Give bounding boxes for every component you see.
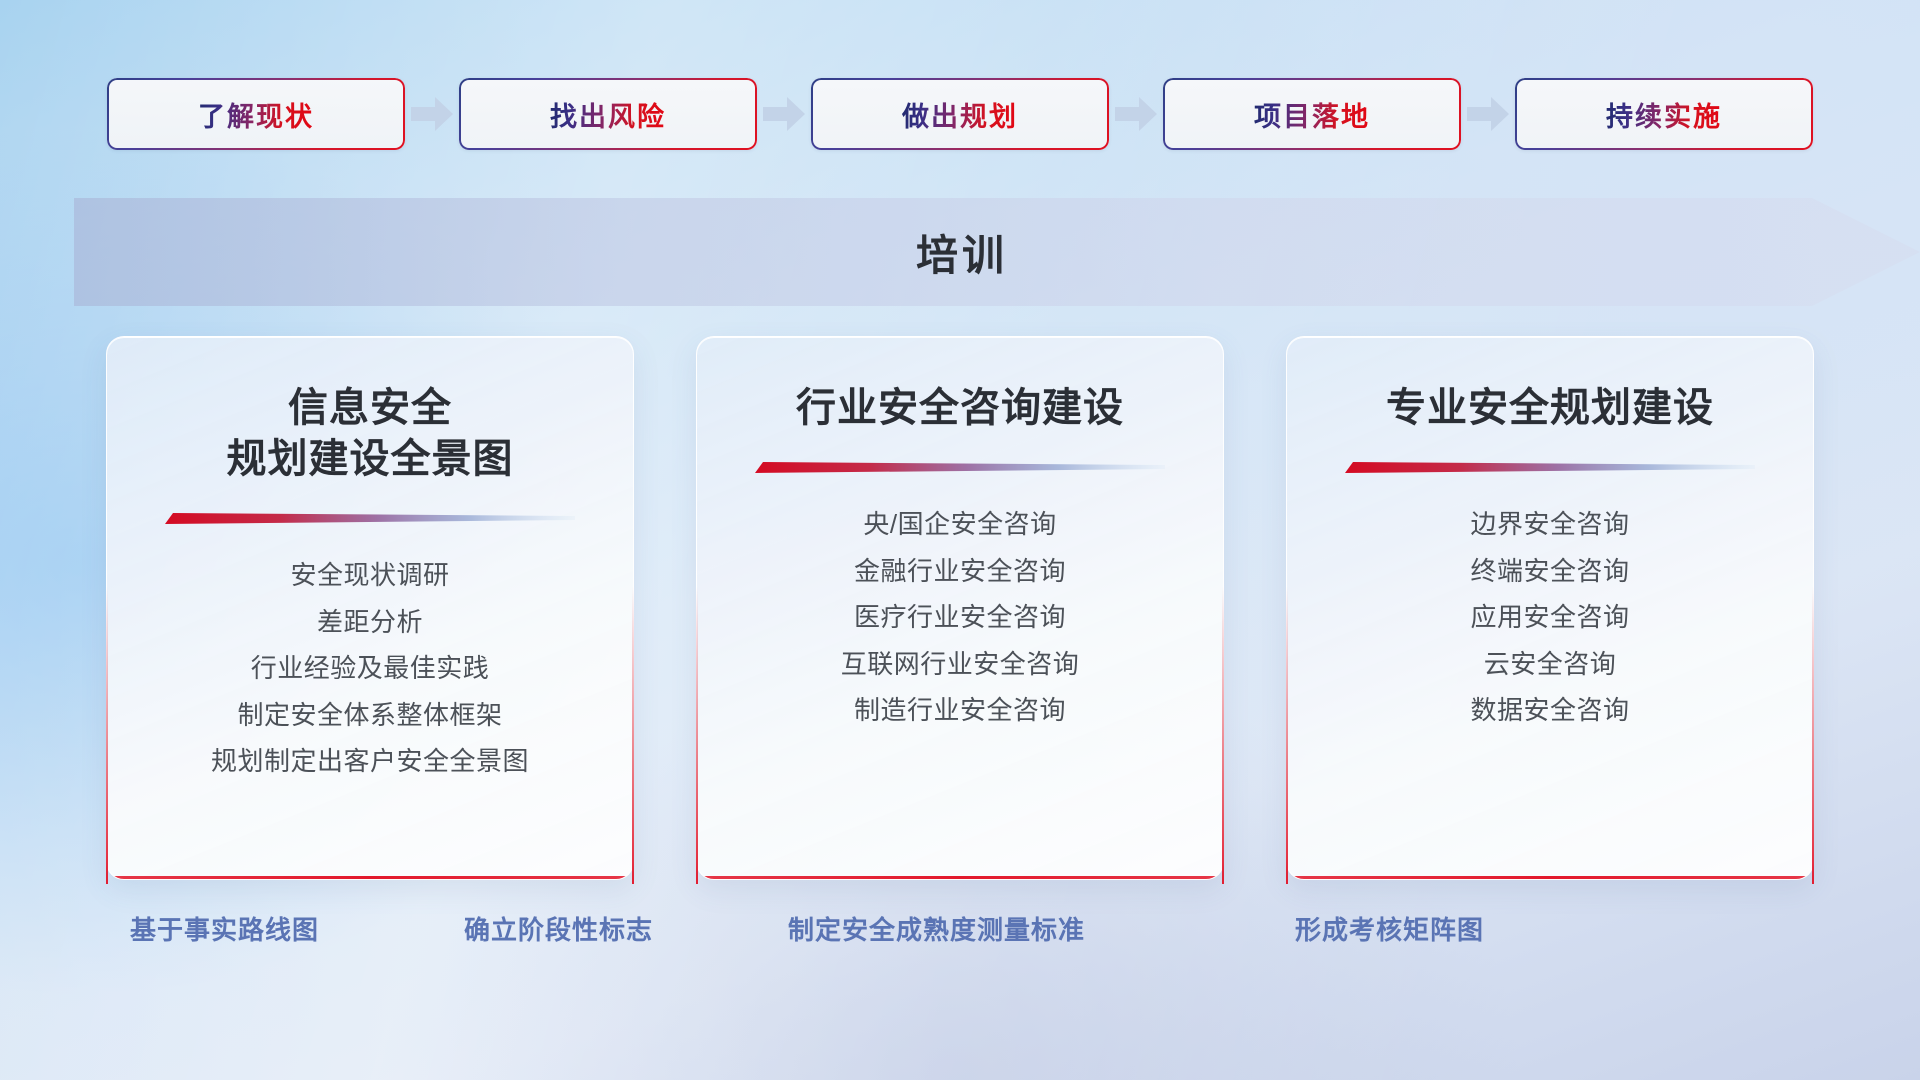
footer-label-1: 基于事实路线图 [130, 910, 319, 947]
card-2[interactable]: 行业安全咨询建设 央/国企安全咨询 [696, 336, 1224, 880]
step-box-1[interactable]: 了解现状 [107, 78, 405, 150]
card-title-2: 行业安全咨询建设 [796, 383, 1124, 434]
step-box-2[interactable]: 找出风险 [459, 78, 757, 150]
arrow-right-icon [405, 78, 459, 150]
list-item: 安全现状调研 [290, 559, 449, 592]
list-item: 数据安全咨询 [1470, 694, 1629, 727]
step-box-4[interactable]: 项目落地 [1163, 78, 1461, 150]
card-bottom-accent [703, 876, 1217, 879]
banner-label: 培训 [74, 198, 1920, 306]
list-item: 边界安全咨询 [1470, 508, 1629, 541]
step-box-3[interactable]: 做出规划 [811, 78, 1109, 150]
list-item: 终端安全咨询 [1470, 555, 1629, 588]
list-item: 制造行业安全咨询 [854, 694, 1066, 727]
list-item: 医疗行业安全咨询 [854, 601, 1066, 634]
card-list-2: 央/国企安全咨询 金融行业安全咨询 医疗行业安全咨询 互联网行业安全咨询 制造行… [723, 508, 1197, 727]
card-divider-2 [755, 460, 1165, 478]
list-item: 云安全咨询 [1484, 648, 1617, 681]
card-divider-3 [1345, 460, 1755, 478]
list-item: 央/国企安全咨询 [863, 508, 1056, 541]
card-title-1: 信息安全 规划建设全景图 [227, 383, 514, 485]
list-item: 行业经验及最佳实践 [251, 652, 490, 685]
arrow-right-icon [1461, 78, 1515, 150]
step-label-3: 做出规划 [902, 95, 1018, 134]
card-wrapper-3: 专业安全规划建设 边界安全咨询 [1286, 336, 1814, 880]
list-item: 金融行业安全咨询 [854, 555, 1066, 588]
step-label-4: 项目落地 [1254, 95, 1370, 134]
card-title-3: 专业安全规划建设 [1386, 383, 1714, 434]
list-item: 互联网行业安全咨询 [841, 648, 1080, 681]
card-wrapper-1: 信息安全 规划建设全景图 安全现状调研 [106, 336, 634, 880]
card-bottom-accent [1293, 876, 1807, 879]
training-banner: 培训 [74, 198, 1920, 306]
list-item: 规划制定出客户安全全景图 [211, 745, 529, 778]
step-label-1: 了解现状 [198, 95, 314, 134]
footer-label-2: 确立阶段性标志 [464, 910, 653, 947]
card-divider-1 [165, 511, 575, 529]
step-label-2: 找出风险 [550, 95, 666, 134]
step-box-5[interactable]: 持续实施 [1515, 78, 1813, 150]
card-1[interactable]: 信息安全 规划建设全景图 安全现状调研 [106, 336, 634, 880]
footer-label-3: 制定安全成熟度测量标准 [788, 910, 1085, 947]
card-list-1: 安全现状调研 差距分析 行业经验及最佳实践 制定安全体系整体框架 规划制定出客户… [133, 559, 607, 778]
process-steps-row: 了解现状 找出风险 做出规划 项目落地 持续实施 [0, 78, 1920, 150]
card-list-3: 边界安全咨询 终端安全咨询 应用安全咨询 云安全咨询 数据安全咨询 [1313, 508, 1787, 727]
cards-row: 信息安全 规划建设全景图 安全现状调研 [0, 336, 1920, 880]
card-wrapper-2: 行业安全咨询建设 央/国企安全咨询 [696, 336, 1224, 880]
list-item: 应用安全咨询 [1470, 601, 1629, 634]
card-3[interactable]: 专业安全规划建设 边界安全咨询 [1286, 336, 1814, 880]
list-item: 差距分析 [317, 606, 423, 639]
arrow-right-icon [1109, 78, 1163, 150]
footer-labels-row: 基于事实路线图 确立阶段性标志 制定安全成熟度测量标准 形成考核矩阵图 [0, 910, 1920, 960]
card-bottom-accent [113, 876, 627, 879]
arrow-right-icon [757, 78, 811, 150]
step-label-5: 持续实施 [1606, 95, 1722, 134]
list-item: 制定安全体系整体框架 [237, 699, 502, 732]
footer-label-4: 形成考核矩阵图 [1295, 910, 1484, 947]
